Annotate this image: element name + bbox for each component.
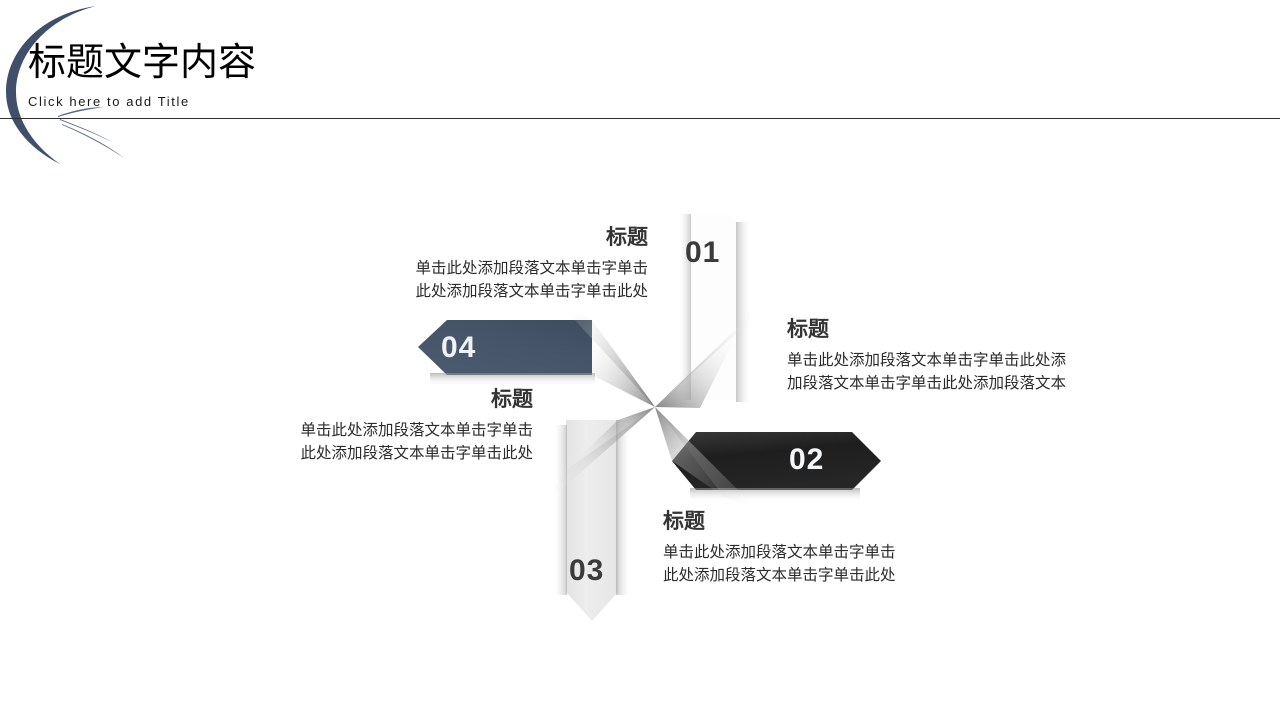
text-block-02: 标题 单击此处添加段落文本单击字单击此处添 加段落文本单击字单击此处添加段落文本 bbox=[787, 318, 1107, 395]
block-03-body: 单击此处添加段落文本单击字单击 此处添加段落文本单击字单击此处 bbox=[663, 542, 983, 587]
block-03-body-line-2: 此处添加段落文本单击字单击此处 bbox=[663, 565, 983, 587]
block-02-heading: 标题 bbox=[787, 318, 1107, 341]
arrow-number-01: 01 bbox=[685, 236, 720, 270]
block-01-body: 单击此处添加段落文本单击字单击 此处添加段落文本单击字单击此处 bbox=[248, 258, 648, 303]
block-02-body: 单击此处添加段落文本单击字单击此处添 加段落文本单击字单击此处添加段落文本 bbox=[787, 350, 1107, 395]
arrow-number-04: 04 bbox=[441, 331, 476, 365]
text-block-04: 标题 单击此处添加段落文本单击字单击 此处添加段落文本单击字单击此处 bbox=[133, 388, 533, 465]
block-01-body-line-1: 单击此处添加段落文本单击字单击 bbox=[248, 258, 648, 280]
text-block-01: 标题 单击此处添加段落文本单击字单击 此处添加段落文本单击字单击此处 bbox=[248, 226, 648, 303]
arrow-number-03: 03 bbox=[569, 554, 604, 588]
pinwheel-diagram: 01 02 03 04 标题 单击此处添加段落文本单击字单击 此处添加段落文本单… bbox=[0, 0, 1280, 720]
block-03-heading: 标题 bbox=[663, 510, 983, 533]
arrow-number-02: 02 bbox=[789, 443, 824, 477]
block-04-heading: 标题 bbox=[133, 388, 533, 411]
block-04-body-line-1: 单击此处添加段落文本单击字单击 bbox=[133, 420, 533, 442]
block-03-body-line-1: 单击此处添加段落文本单击字单击 bbox=[663, 542, 983, 564]
block-02-body-line-2: 加段落文本单击字单击此处添加段落文本 bbox=[787, 373, 1107, 395]
text-block-03: 标题 单击此处添加段落文本单击字单击 此处添加段落文本单击字单击此处 bbox=[663, 510, 983, 587]
block-04-body-line-2: 此处添加段落文本单击字单击此处 bbox=[133, 443, 533, 465]
block-01-heading: 标题 bbox=[248, 226, 648, 249]
block-01-body-line-2: 此处添加段落文本单击字单击此处 bbox=[248, 281, 648, 303]
block-02-body-line-1: 单击此处添加段落文本单击字单击此处添 bbox=[787, 350, 1107, 372]
block-04-body: 单击此处添加段落文本单击字单击 此处添加段落文本单击字单击此处 bbox=[133, 420, 533, 465]
